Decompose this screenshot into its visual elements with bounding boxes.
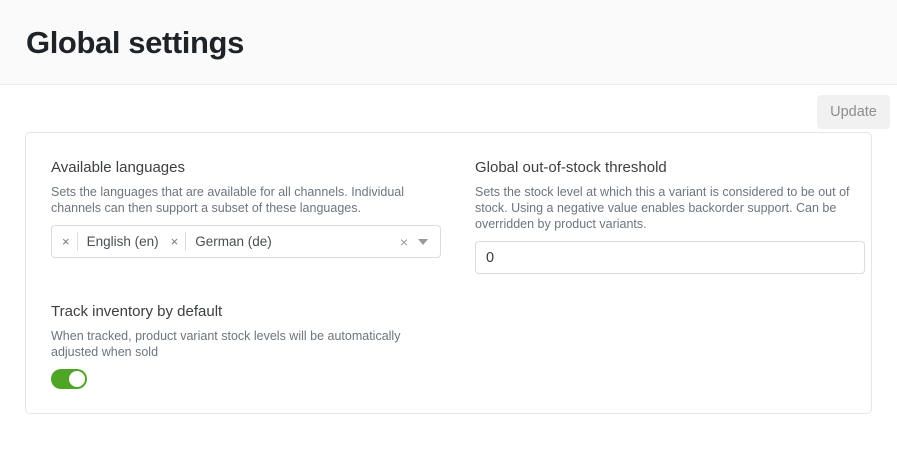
chip-label: German (de) [185,232,272,251]
available-languages-select[interactable]: × English (en) × German (de) × [51,225,441,258]
chevron-down-icon[interactable] [418,239,428,245]
out-of-stock-threshold-label: Global out-of-stock threshold [475,159,865,177]
chip-remove-icon[interactable]: × [60,235,77,248]
update-button[interactable]: Update [817,95,890,129]
settings-row-primary: Available languages Sets the languages t… [51,159,846,274]
out-of-stock-threshold-input[interactable] [475,241,865,274]
action-bar: Update [0,85,897,132]
track-inventory-toggle[interactable] [51,369,87,389]
field-available-languages: Available languages Sets the languages t… [51,159,441,274]
track-inventory-label: Track inventory by default [51,303,441,321]
page-header: Global settings [0,0,897,85]
settings-row-secondary: Track inventory by default When tracked,… [51,303,846,389]
field-out-of-stock-threshold: Global out-of-stock threshold Sets the s… [475,159,865,274]
out-of-stock-threshold-description: Sets the stock level at which this a var… [475,184,865,232]
settings-card: Available languages Sets the languages t… [25,132,872,414]
track-inventory-description: When tracked, product variant stock leve… [51,328,441,360]
field-track-inventory: Track inventory by default When tracked,… [51,303,441,389]
chip-label: English (en) [77,232,159,251]
chip-remove-icon[interactable]: × [169,235,186,248]
toggle-knob [69,371,85,387]
page-title: Global settings [26,27,244,58]
available-languages-label: Available languages [51,159,441,177]
available-languages-description: Sets the languages that are available fo… [51,184,441,216]
clear-all-icon[interactable]: × [396,235,418,249]
language-chip-english: × English (en) [60,231,159,252]
language-chip-german: × German (de) [169,231,272,252]
